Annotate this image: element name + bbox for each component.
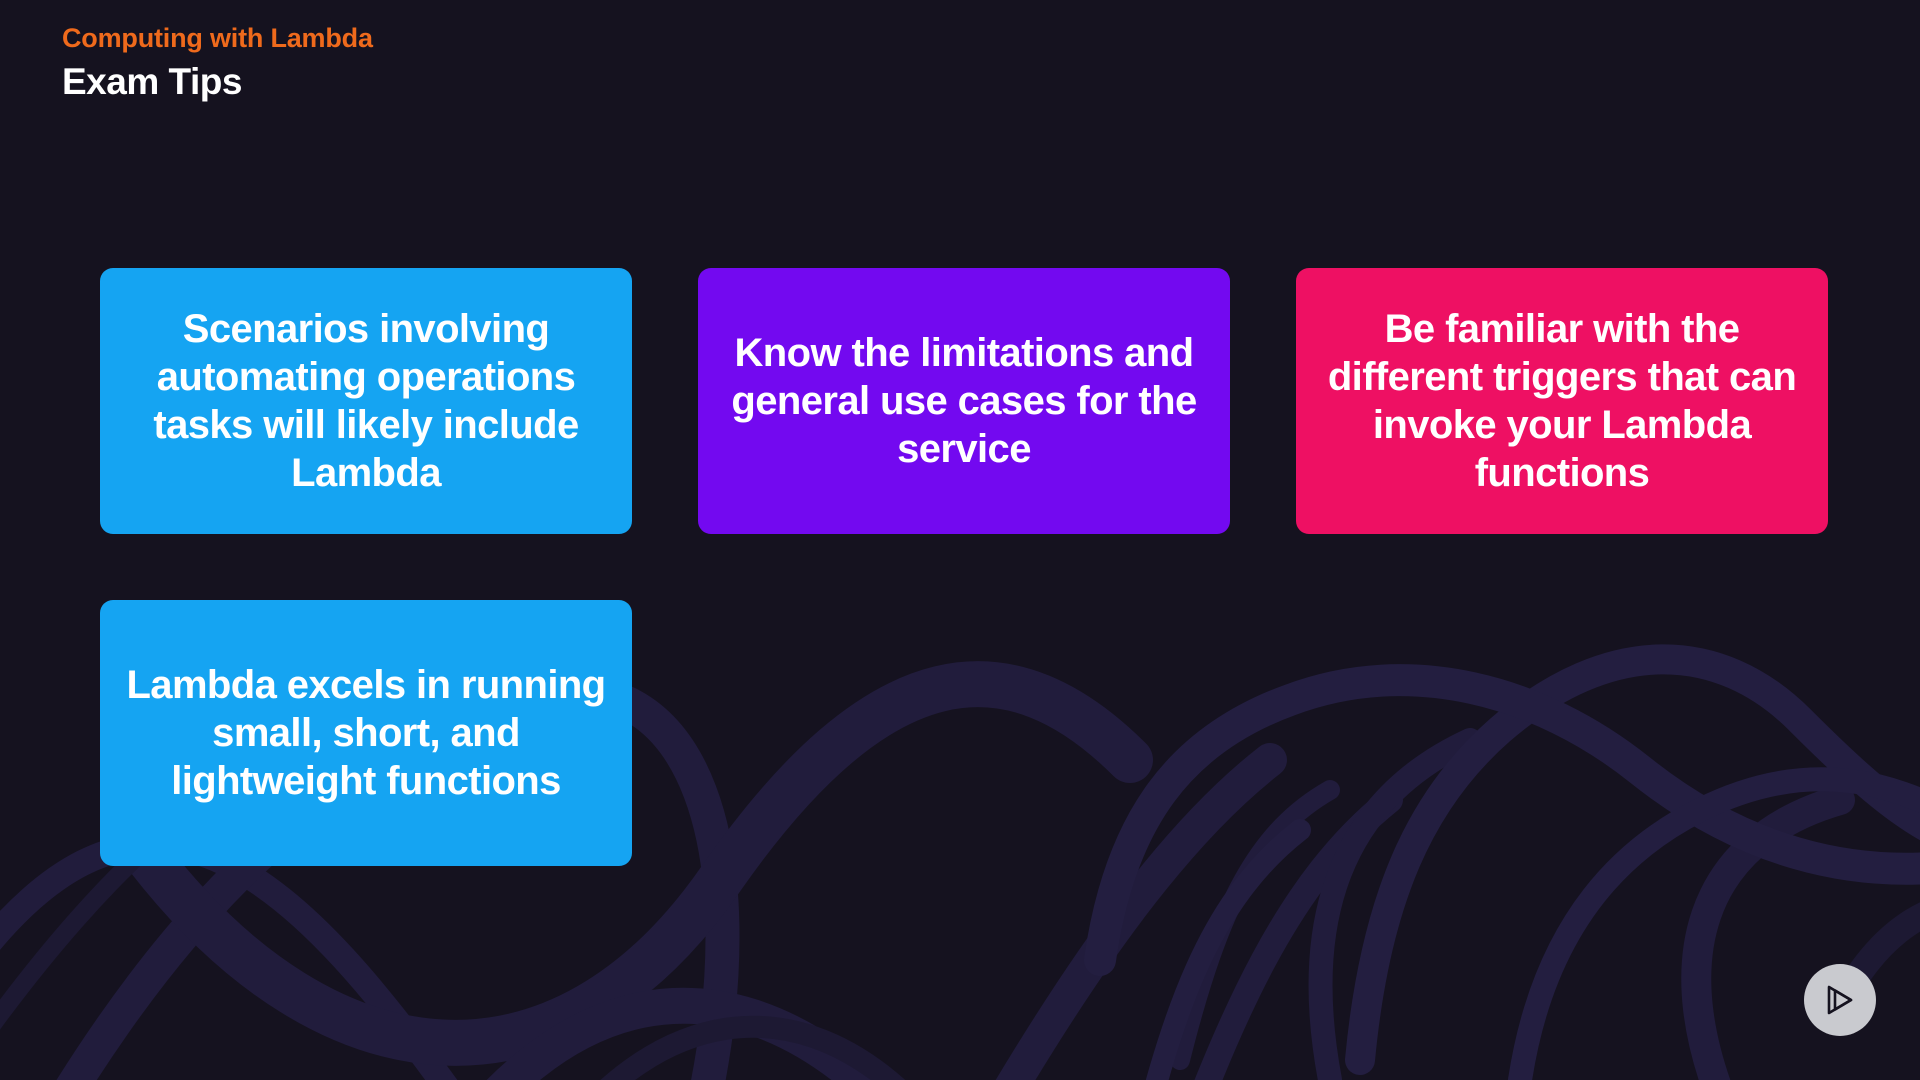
play-double-triangle-icon [1820, 980, 1860, 1020]
tip-card-grid: Scenarios involving automating operation… [100, 268, 1830, 932]
tip-card-slot-empty-2 [1296, 600, 1828, 866]
tip-card-1-text: Scenarios involving automating operation… [126, 305, 606, 497]
tip-card-2: Know the limitations and general use cas… [698, 268, 1230, 534]
tip-card-row-1: Scenarios involving automating operation… [100, 268, 1830, 534]
tip-card-4-text: Lambda excels in running small, short, a… [126, 661, 606, 805]
play-button[interactable] [1804, 964, 1876, 1036]
section-eyebrow: Computing with Lambda [62, 22, 373, 56]
tip-card-slot-empty-1 [698, 600, 1230, 866]
slide-header: Computing with Lambda Exam Tips [62, 22, 373, 104]
tip-card-2-text: Know the limitations and general use cas… [724, 329, 1204, 473]
page-title: Exam Tips [62, 60, 373, 104]
tip-card-4: Lambda excels in running small, short, a… [100, 600, 632, 866]
tip-card-1: Scenarios involving automating operation… [100, 268, 632, 534]
tip-card-3-text: Be familiar with the different triggers … [1322, 305, 1802, 497]
tip-card-3: Be familiar with the different triggers … [1296, 268, 1828, 534]
slide-root: Computing with Lambda Exam Tips Scenario… [0, 0, 1920, 1080]
tip-card-row-2: Lambda excels in running small, short, a… [100, 600, 1830, 866]
